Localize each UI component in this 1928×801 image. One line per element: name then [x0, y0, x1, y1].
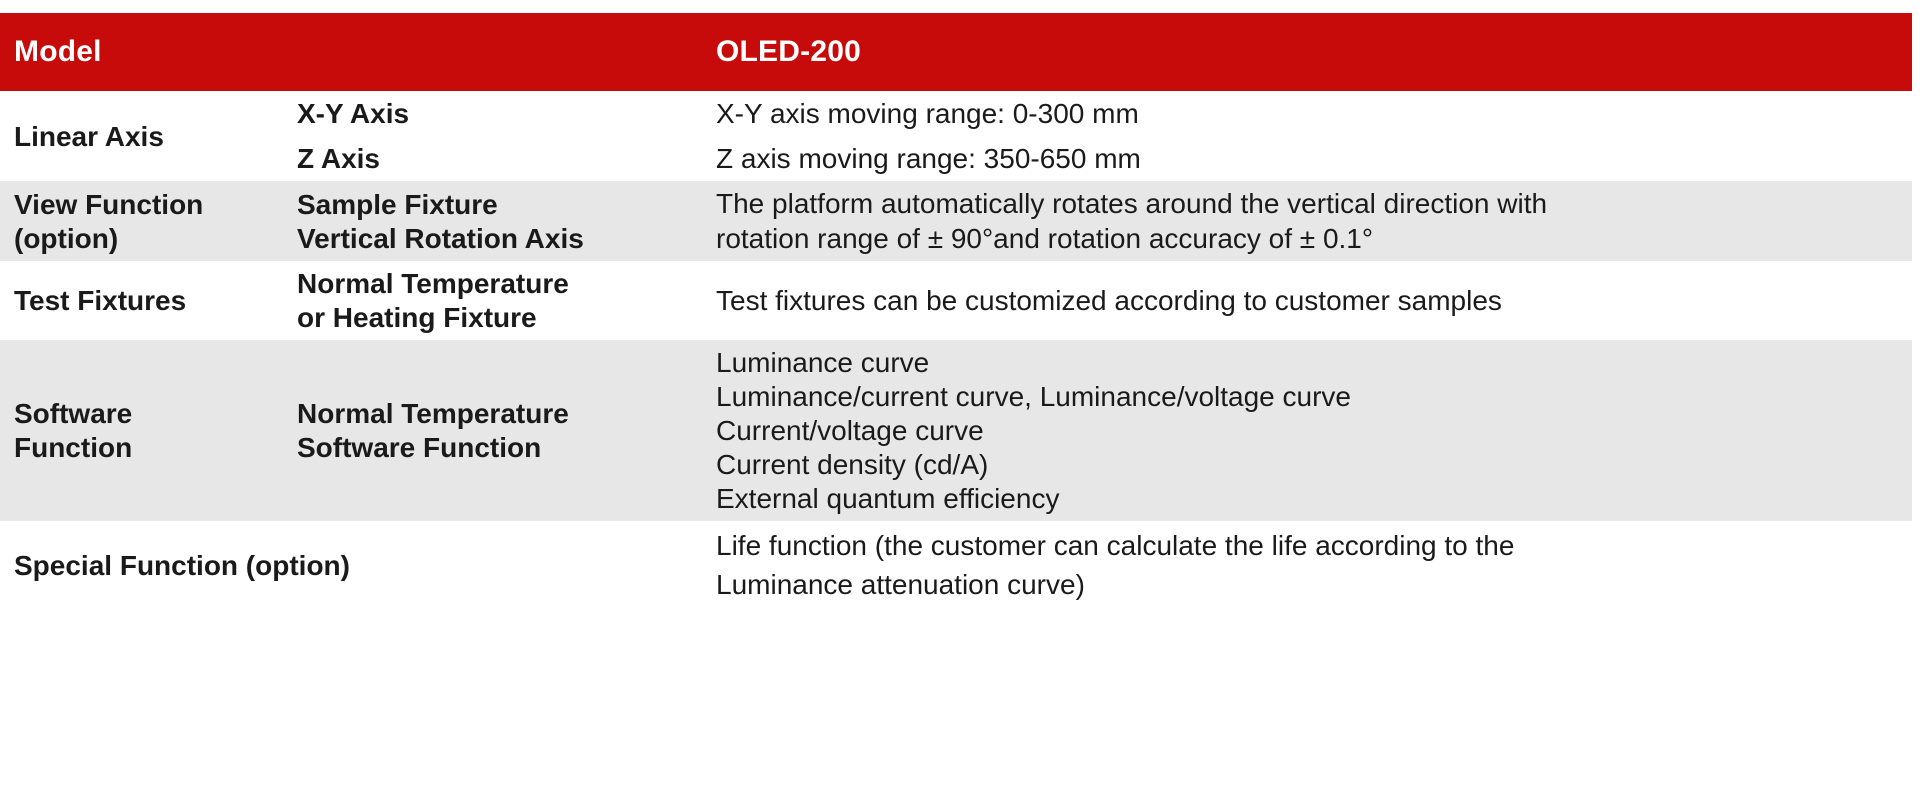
header-row: Model OLED-200: [0, 13, 1912, 91]
row-group-test-fixtures: Test Fixtures: [0, 261, 283, 340]
table-row-special-function: Special Function (option) Life function …: [0, 521, 1912, 610]
row-group-software-function-line2: Function: [14, 431, 275, 464]
software-function-item: External quantum efficiency: [716, 482, 1902, 515]
row-group-view-function-line2: (option): [14, 222, 275, 255]
row-value-z-axis: Z axis moving range: 350-650 mm: [702, 136, 1912, 181]
software-function-item: Luminance curve: [716, 346, 1902, 379]
row-value-special-function-line2: Luminance attenuation curve): [716, 566, 1902, 604]
row-group-software-function-line1: Software: [14, 397, 275, 430]
table-row-view-function: View Function (option) Sample Fixture Ve…: [0, 181, 1912, 261]
row-group-view-function: View Function (option): [0, 181, 283, 261]
row-sub-normal-temp-heating-fixture: Normal Temperature or Heating Fixture: [283, 261, 702, 340]
row-group-software-function: Software Function: [0, 340, 283, 521]
row-sub-z-axis: Z Axis: [283, 136, 702, 181]
row-value-test-fixtures: Test fixtures can be customized accordin…: [702, 261, 1912, 340]
header-cell-model: Model: [0, 13, 283, 91]
software-function-item: Luminance/current curve, Luminance/volta…: [716, 380, 1902, 413]
specification-table: Model OLED-200 Linear Axis X-Y Axis X-Y …: [0, 13, 1912, 610]
row-value-special-function-line1: Life function (the customer can calculat…: [716, 527, 1902, 565]
header-cell-blank: [283, 13, 702, 91]
row-value-view-function-line2: rotation range of ± 90°and rotation accu…: [716, 222, 1902, 256]
row-sub-normal-temp-heating-fixture-line1: Normal Temperature: [297, 267, 694, 300]
row-sub-sample-fixture-line1: Sample Fixture: [297, 188, 694, 221]
row-value-software-function-list: Luminance curve Luminance/current curve,…: [702, 340, 1912, 521]
row-sub-xy-axis: X-Y Axis: [283, 91, 702, 136]
row-value-xy-axis: X-Y axis moving range: 0-300 mm: [702, 91, 1912, 136]
row-value-view-function: The platform automatically rotates aroun…: [702, 181, 1912, 261]
table-header: Model OLED-200: [0, 13, 1912, 91]
header-cell-model-name: OLED-200: [702, 13, 1912, 91]
table-body: Linear Axis X-Y Axis X-Y axis moving ran…: [0, 91, 1912, 610]
row-value-special-function: Life function (the customer can calculat…: [702, 521, 1912, 610]
software-function-item: Current density (cd/A): [716, 448, 1902, 481]
row-sub-normal-temp-software-function-line1: Normal Temperature: [297, 397, 694, 430]
table-row-linear-axis-xy: Linear Axis X-Y Axis X-Y axis moving ran…: [0, 91, 1912, 136]
table-row-test-fixtures: Test Fixtures Normal Temperature or Heat…: [0, 261, 1912, 340]
row-group-special-function: Special Function (option): [0, 521, 702, 610]
row-group-linear-axis: Linear Axis: [0, 91, 283, 181]
row-sub-normal-temp-software-function-line2: Software Function: [297, 431, 694, 464]
row-sub-normal-temp-heating-fixture-line2: or Heating Fixture: [297, 301, 694, 334]
software-function-item: Current/voltage curve: [716, 414, 1902, 447]
table-row-software-function: Software Function Normal Temperature Sof…: [0, 340, 1912, 521]
row-value-view-function-line1: The platform automatically rotates aroun…: [716, 187, 1902, 221]
row-sub-sample-fixture: Sample Fixture Vertical Rotation Axis: [283, 181, 702, 261]
row-group-view-function-line1: View Function: [14, 188, 275, 221]
spec-sheet: Model OLED-200 Linear Axis X-Y Axis X-Y …: [0, 13, 1928, 801]
row-sub-sample-fixture-line2: Vertical Rotation Axis: [297, 222, 694, 255]
table-row-linear-axis-z: Z Axis Z axis moving range: 350-650 mm: [0, 136, 1912, 181]
row-sub-normal-temp-software-function: Normal Temperature Software Function: [283, 340, 702, 521]
